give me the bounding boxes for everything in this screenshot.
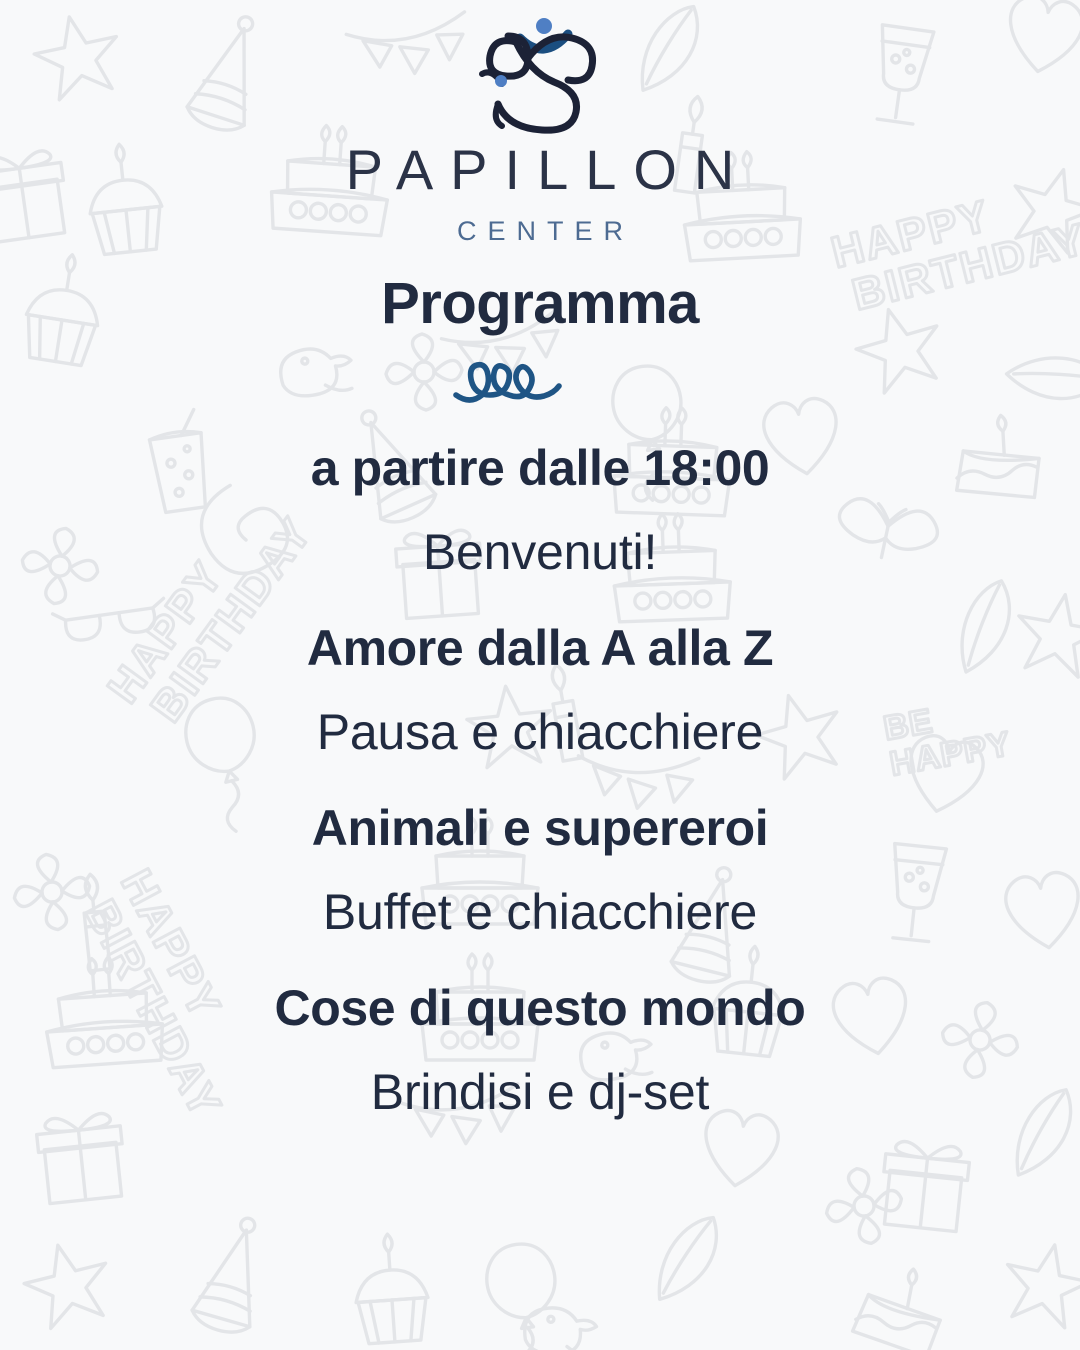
- program-line-activity: Pausa e chiacchiere: [317, 707, 763, 757]
- program-line-activity: Benvenuti!: [423, 527, 657, 577]
- program-line-title: Cose di questo mondo: [275, 983, 806, 1033]
- program-line-title: Animali e supereroi: [312, 803, 768, 853]
- program-poster: HAPPY BIRTHDAY BE HAPPY: [0, 0, 1080, 1350]
- brand-name: PAPILLON: [329, 142, 752, 198]
- butterfly-logo-icon: [460, 8, 620, 148]
- page-title: Programma: [381, 275, 699, 333]
- brand-subtitle: CENTER: [446, 218, 634, 245]
- brand-logo-block: PAPILLON CENTER: [329, 8, 752, 245]
- program-line-time: a partire dalle 18:00: [311, 443, 770, 493]
- loop-squiggle-divider-icon: [450, 355, 630, 407]
- poster-content: PAPILLON CENTER Programma a partire dall…: [0, 0, 1080, 1350]
- program-line-activity: Brindisi e dj-set: [371, 1067, 709, 1117]
- program-list: a partire dalle 18:00 Benvenuti! Amore d…: [0, 425, 1080, 1117]
- program-line-activity: Buffet e chiacchiere: [323, 887, 757, 937]
- program-line-title: Amore dalla A alla Z: [307, 623, 773, 673]
